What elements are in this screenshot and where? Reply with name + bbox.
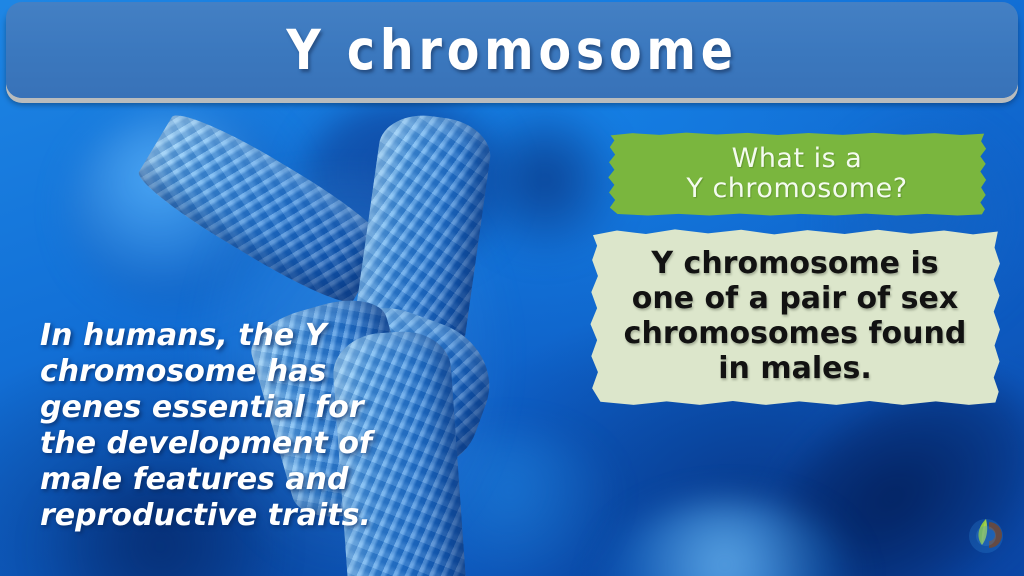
definition-line-2: one of a pair of sex [632,281,958,316]
caption-block: In humans, the Y chromosome has genes es… [40,318,390,534]
definition-box: Y chromosome is one of a pair of sex chr… [588,228,1002,406]
infographic-slide: Y chromosome What is a Y chromosome? Y c… [0,0,1024,576]
question-line-2: Y chromosome? [686,173,907,204]
caption-line-4: the development of [40,426,372,461]
caption-line-3: genes essential for [40,390,364,425]
caption-line-2: chromosome has [40,354,326,389]
definition-line-3: chromosomes found [624,316,967,351]
caption-line-5: male features and [40,462,348,497]
definition-line-4: in males. [718,351,871,386]
caption-text: In humans, the Y chromosome has genes es… [40,318,390,534]
question-line-1: What is a [732,143,863,174]
definition-line-1: Y chromosome is [651,246,938,281]
definition-text: Y chromosome is one of a pair of sex chr… [610,247,981,386]
question-banner: What is a Y chromosome? [606,132,988,216]
caption-line-6: reproductive traits. [40,498,371,533]
page-title: Y chromosome [286,18,737,82]
caption-line-1: In humans, the Y [40,318,326,353]
title-bar: Y chromosome [6,2,1018,98]
question-text: What is a Y chromosome? [686,144,907,204]
biology-online-logo-icon [962,511,1010,559]
